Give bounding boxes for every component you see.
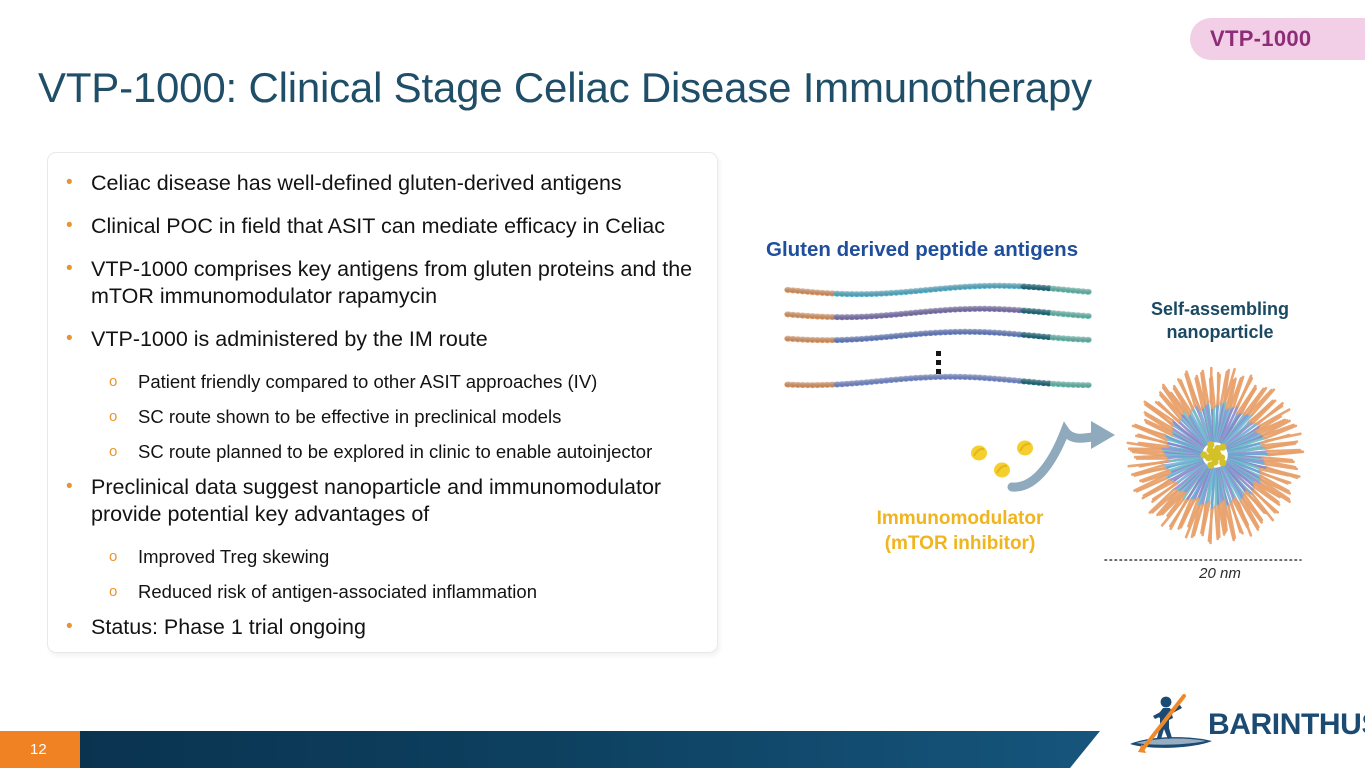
peptide-chains-graphic [780,280,1100,410]
bullet-text: Improved Treg skewing [138,544,703,569]
bullet-list: •Celiac disease has well-defined gluten-… [62,170,703,641]
bullet-item: oSC route planned to be explored in clin… [62,439,703,464]
brand-name: BARINTHUS [1208,708,1365,742]
bullet-marker-icon: • [62,474,91,499]
bullet-marker-icon: o [109,404,138,429]
peptide-antigens-heading: Gluten derived peptide antigens [766,238,1078,262]
immunomodulator-label: Immunomodulator (mTOR inhibitor) [845,506,1075,556]
bullet-text: Reduced risk of antigen-associated infla… [138,579,703,604]
bullet-marker-icon: • [62,213,91,238]
bullet-marker-icon: o [109,544,138,569]
bullet-item: oPatient friendly compared to other ASIT… [62,369,703,394]
scale-bar [1103,556,1303,564]
bullet-item: •VTP-1000 comprises key antigens from gl… [62,256,703,310]
immunomodulator-line2: (mTOR inhibitor) [845,531,1075,556]
bullet-item: •Status: Phase 1 trial ongoing [62,614,703,641]
vertical-ellipsis-icon [933,350,945,380]
bullet-text: Patient friendly compared to other ASIT … [138,369,703,394]
bullet-text: SC route planned to be explored in clini… [138,439,703,464]
paddleboarder-icon [1122,694,1218,756]
scale-bar-label: 20 nm [1140,565,1300,582]
bullet-item: oImproved Treg skewing [62,544,703,569]
bullet-marker-icon: o [109,579,138,604]
bullet-item: •Clinical POC in field that ASIT can med… [62,213,703,240]
page-number-badge: 12 [0,731,80,768]
mechanism-diagram: Gluten derived peptide antigens Self-ass… [740,228,1360,608]
content-card: •Celiac disease has well-defined gluten-… [47,152,718,653]
nanoparticle-label-line1: Self-assembling [1115,298,1325,321]
nanoparticle-graphic [1100,353,1330,563]
immunomodulator-line1: Immunomodulator [845,506,1075,531]
nanoparticle-label: Self-assembling nanoparticle [1115,298,1325,344]
bullet-item: •VTP-1000 is administered by the IM rout… [62,326,703,353]
bullet-item: •Celiac disease has well-defined gluten-… [62,170,703,197]
page-title: VTP-1000: Clinical Stage Celiac Disease … [38,64,1092,112]
bullet-marker-icon: • [62,256,91,281]
bullet-text: Celiac disease has well-defined gluten-d… [91,170,703,197]
bullet-text: SC route shown to be effective in precli… [138,404,703,429]
product-tag-badge: VTP-1000 [1190,18,1365,60]
bullet-text: Status: Phase 1 trial ongoing [91,614,703,641]
product-tag-label: VTP-1000 [1190,26,1311,52]
nanoparticle-label-line2: nanoparticle [1115,321,1325,344]
bullet-marker-icon: • [62,326,91,351]
page-number: 12 [30,741,47,758]
bullet-marker-icon: • [62,170,91,195]
bullet-marker-icon: • [62,614,91,639]
bullet-text: Clinical POC in field that ASIT can medi… [91,213,703,240]
bullet-text: VTP-1000 comprises key antigens from glu… [91,256,703,310]
bullet-text: VTP-1000 is administered by the IM route [91,326,703,353]
bullet-item: oSC route shown to be effective in precl… [62,404,703,429]
bullet-marker-icon: o [109,369,138,394]
bullet-item: •Preclinical data suggest nanoparticle a… [62,474,703,528]
bullet-text: Preclinical data suggest nanoparticle an… [91,474,703,528]
bullet-marker-icon: o [109,439,138,464]
brand-logo: BARINTHUS [1122,694,1350,764]
bullet-item: oReduced risk of antigen-associated infl… [62,579,703,604]
